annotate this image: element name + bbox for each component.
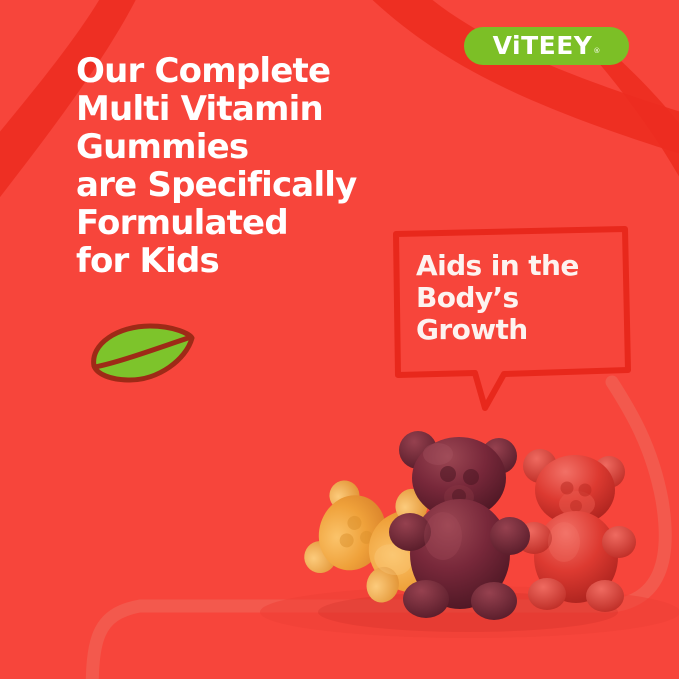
purple-gummy-bear xyxy=(389,431,530,620)
red-gummy-bear xyxy=(516,449,636,612)
brand-logo[interactable]: ViTEEY ® xyxy=(464,27,629,65)
callout-bubble-text: Aids in the Body’s Growth xyxy=(416,250,626,346)
headline-line-5: Formulated xyxy=(76,204,476,242)
swoosh-top-right-tail xyxy=(598,58,679,215)
product-promo-poster: ViTEEY ® Our Complete Multi Vitamin Gumm… xyxy=(0,0,679,679)
gummy-bears-trio xyxy=(288,414,648,644)
headline-line-4: are Specifically xyxy=(76,166,476,204)
headline-block: Our Complete Multi Vitamin Gummies are S… xyxy=(76,52,476,280)
bubble-line-2: Body’s xyxy=(416,282,626,314)
registered-trademark-icon: ® xyxy=(593,47,600,55)
logo-text: ViTEEY xyxy=(493,33,593,58)
bubble-line-1: Aids in the xyxy=(416,250,626,282)
headline-line-1: Our Complete xyxy=(76,52,476,90)
headline-line-3: Gummies xyxy=(76,128,476,166)
bubble-line-3: Growth xyxy=(416,314,626,346)
leaf-icon xyxy=(88,322,198,384)
headline-line-2: Multi Vitamin xyxy=(76,90,476,128)
logo-wordmark: ViTEEY ® xyxy=(493,33,601,58)
